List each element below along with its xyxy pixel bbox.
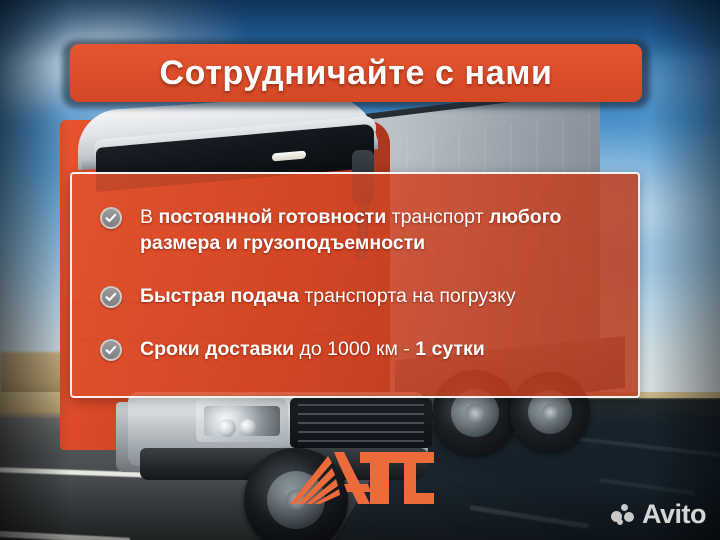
list-item: В постоянной готовности транспорт любого… bbox=[100, 204, 612, 256]
text-run: В bbox=[140, 206, 158, 228]
grille-slats bbox=[298, 404, 424, 442]
headlight-icon bbox=[196, 398, 288, 442]
text-run: Сроки доставки bbox=[140, 338, 300, 360]
text-run: транспорта на погрузку bbox=[304, 285, 515, 307]
check-circle-icon bbox=[100, 339, 122, 361]
text-run: до 1000 км - bbox=[300, 338, 416, 360]
check-circle-icon bbox=[100, 286, 122, 308]
list-item-text: Сроки доставки до 1000 км - 1 сутки bbox=[140, 336, 485, 362]
wheel-hub bbox=[466, 404, 483, 421]
text-run: постоянной готовности bbox=[158, 206, 391, 228]
list-item-text: В постоянной готовности транспорт любого… bbox=[140, 204, 612, 256]
page-title: Сотрудничайте с нами bbox=[160, 54, 553, 93]
text-run: транспорт bbox=[392, 206, 489, 228]
atc-logo bbox=[288, 446, 434, 508]
text-run: 1 сутки bbox=[415, 338, 485, 360]
text-run: Быстрая подача bbox=[140, 285, 304, 307]
features-panel: В постоянной готовности транспорт любого… bbox=[70, 172, 640, 398]
avito-wordmark: Avito bbox=[642, 501, 706, 528]
avito-watermark: Avito bbox=[611, 501, 706, 528]
list-item-text: Быстрая подача транспорта на погрузку bbox=[140, 283, 516, 309]
header-banner: Сотрудничайте с нами bbox=[70, 44, 642, 102]
check-circle-icon bbox=[100, 207, 122, 229]
avito-dots-icon bbox=[611, 504, 637, 526]
poster: Сотрудничайте с нами В постоянной готовн… bbox=[0, 0, 720, 540]
list-item: Сроки доставки до 1000 км - 1 сутки bbox=[100, 336, 612, 362]
headlight-bulb bbox=[218, 419, 236, 437]
wheel-hub bbox=[542, 404, 558, 420]
headlight-bulb bbox=[240, 419, 256, 435]
headlight-lens bbox=[204, 406, 280, 436]
list-item: Быстрая подача транспорта на погрузку bbox=[100, 283, 612, 309]
